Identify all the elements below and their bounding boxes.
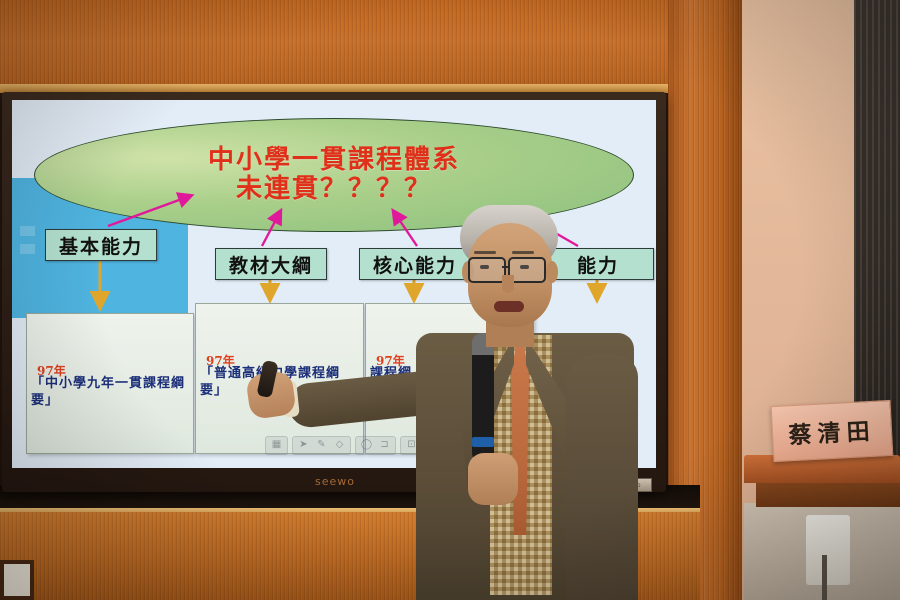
nameplate-text: 蔡清田 [788, 412, 877, 451]
watermark-mark [20, 244, 35, 254]
eraser-icon[interactable]: ◇ [331, 438, 348, 453]
scene-root: 中小學一貫課程體系 未連貫？？？？ [0, 0, 900, 600]
chair [806, 515, 850, 585]
speaker-nose [502, 275, 514, 293]
toolbar-group-view[interactable]: ◯ ⊐ [355, 436, 396, 455]
speaker-eyebrow-right [512, 251, 534, 254]
speaker-right-arm [566, 355, 638, 600]
pen-icon[interactable]: ✎ [313, 438, 330, 453]
speaker-figure [398, 205, 658, 600]
framed-picture [0, 560, 34, 600]
wood-panel-top [0, 0, 700, 92]
capability-box-material[interactable]: 教材大綱 [215, 248, 327, 280]
eyeglasses-bridge [502, 266, 510, 268]
slide-title-line-2: 未連貫？？？？ [236, 175, 432, 204]
doc-box-1[interactable]: 97年 「中小學九年一貫課程綱要」 [26, 313, 194, 454]
slide-overview-icon[interactable]: ▦ [268, 438, 285, 453]
nameplate: 蔡清田 [771, 400, 894, 462]
speaker-eyebrow-left [474, 251, 496, 254]
present-icon[interactable]: ⊐ [376, 438, 393, 453]
speaker-right-hand [468, 453, 518, 505]
capability-box-basic[interactable]: 基本能力 [45, 229, 157, 261]
speaker-mouth [494, 301, 524, 312]
display-brand-logo: seewo [300, 475, 370, 489]
toolbar-group-tools[interactable]: ➤ ✎ ◇ [292, 436, 351, 455]
pointer-icon[interactable]: ➤ [295, 438, 312, 453]
toolbar-group-overview[interactable]: ▦ [265, 436, 288, 455]
chair-leg [822, 555, 827, 600]
zoom-icon[interactable]: ◯ [358, 438, 375, 453]
eyeglasses-lens-left [468, 257, 506, 283]
doc-body-1: 「中小學九年一貫課程綱要」 [31, 376, 187, 410]
watermark-mark [20, 226, 35, 236]
slide-title-line-1: 中小學一貫課程體系 [208, 146, 460, 175]
speaker-ear-right [546, 261, 558, 283]
podium-body [756, 479, 900, 507]
microphone-band [472, 437, 494, 447]
